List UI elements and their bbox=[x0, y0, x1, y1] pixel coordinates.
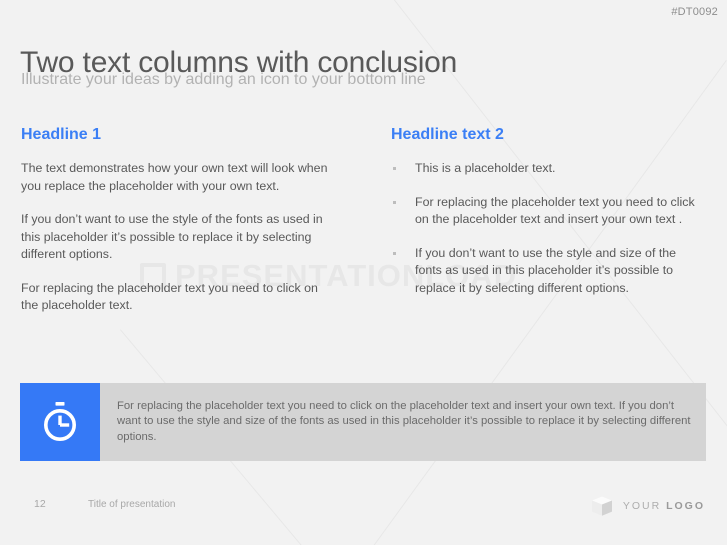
footer-page-number: 12 bbox=[34, 498, 46, 510]
list-item-text: If you don’t want to use the style and s… bbox=[415, 246, 676, 295]
bullet-point-icon bbox=[393, 201, 396, 204]
column-left-paragraph[interactable]: For replacing the placeholder text you n… bbox=[21, 280, 331, 315]
conclusion-text: For replacing the placeholder text you n… bbox=[117, 399, 692, 446]
conclusion-icon-container[interactable] bbox=[20, 383, 100, 461]
bullet-point-icon bbox=[393, 252, 396, 255]
footer-logo: YOUR LOGO bbox=[591, 494, 705, 518]
bullet-point-icon bbox=[393, 167, 396, 170]
footer-logo-text-bold: LOGO bbox=[666, 500, 705, 512]
footer-logo-text: YOUR LOGO bbox=[623, 500, 705, 512]
footer-presentation-title: Title of presentation bbox=[88, 499, 175, 510]
text-column-left: Headline 1 The text demonstrates how you… bbox=[21, 126, 331, 315]
bullet-list: This is a placeholder text. For replacin… bbox=[391, 160, 701, 297]
list-item-text: For replacing the placeholder text you n… bbox=[415, 195, 695, 227]
conclusion-bar: For replacing the placeholder text you n… bbox=[20, 383, 706, 461]
column-left-paragraph[interactable]: The text demonstrates how your own text … bbox=[21, 160, 331, 195]
conclusion-text-container[interactable]: For replacing the placeholder text you n… bbox=[100, 383, 706, 461]
list-item[interactable]: If you don’t want to use the style and s… bbox=[391, 245, 701, 298]
slide-canvas: PRESENTATIONLOAD #DT0092 Two text column… bbox=[0, 0, 727, 545]
column-right-headline: Headline text 2 bbox=[391, 126, 701, 144]
list-item[interactable]: For replacing the placeholder text you n… bbox=[391, 194, 701, 229]
footer-logo-text-light: YOUR bbox=[623, 500, 666, 512]
template-code-label: #DT0092 bbox=[671, 6, 718, 18]
column-left-headline: Headline 1 bbox=[21, 126, 331, 144]
list-item[interactable]: This is a placeholder text. bbox=[391, 160, 701, 178]
list-item-text: This is a placeholder text. bbox=[415, 161, 556, 175]
page-subtitle: Illustrate your ideas by adding an icon … bbox=[21, 71, 426, 89]
column-left-paragraph[interactable]: If you don’t want to use the style of th… bbox=[21, 211, 331, 264]
stopwatch-icon bbox=[36, 398, 84, 446]
cube-logo-icon bbox=[591, 494, 613, 518]
text-column-right: Headline text 2 This is a placeholder te… bbox=[391, 126, 701, 297]
